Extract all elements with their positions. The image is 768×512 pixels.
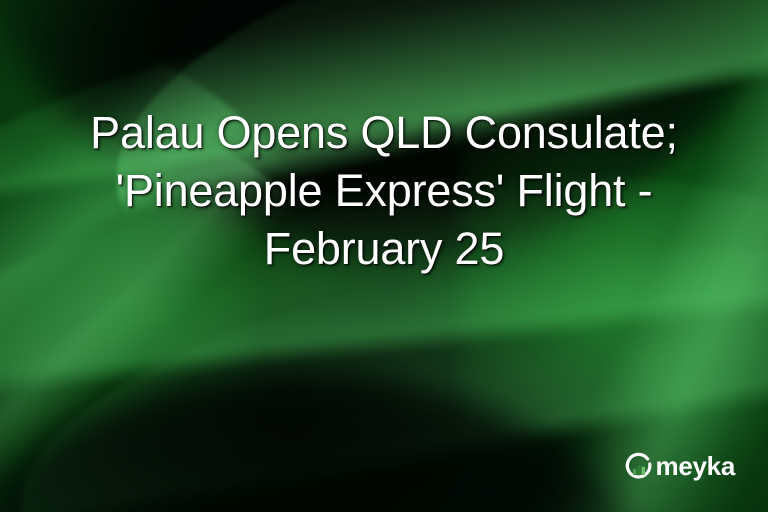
headline-line-1: Palau Opens QLD Consulate; — [90, 104, 678, 162]
meyka-ring-barchart-icon — [624, 452, 654, 482]
meyka-wordmark: meyka — [656, 453, 735, 481]
news-banner-card: Palau Opens QLD Consulate; 'Pineapple Ex… — [0, 0, 768, 512]
headline-line-2: 'Pineapple Express' Flight - — [116, 162, 653, 220]
meyka-logo[interactable]: meyka — [624, 452, 735, 482]
headline-line-3: February 25 — [264, 220, 504, 278]
headline: Palau Opens QLD Consulate; 'Pineapple Ex… — [0, 104, 768, 278]
